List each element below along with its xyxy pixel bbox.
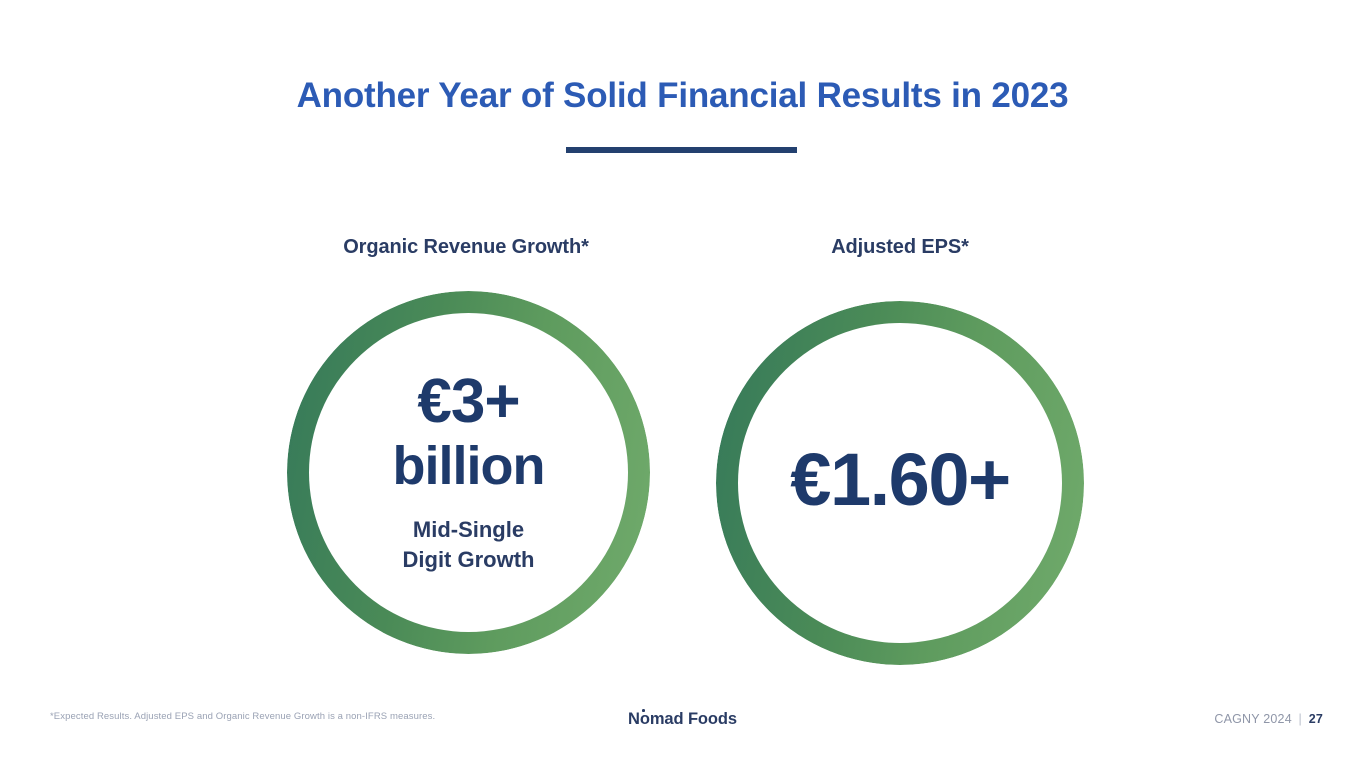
- metric-heading-organic-revenue-growth: Organic Revenue Growth*: [280, 236, 652, 259]
- metric-circle-adjusted-eps: €1.60+: [716, 301, 1084, 665]
- metric-value-organic-revenue: €3+: [393, 371, 545, 433]
- metric-circle-organic-revenue-growth: €3+ billion Mid-Single Digit Growth: [287, 291, 650, 654]
- slide-footer-meta: CAGNY 2024 | 27: [1214, 712, 1323, 726]
- logo-accent-dot-icon: [642, 709, 645, 712]
- logo-wordmark: omad Foods: [640, 710, 737, 728]
- metric-heading-adjusted-eps: Adjusted EPS*: [714, 236, 1086, 259]
- metric-circle-content: €1.60+: [738, 323, 1062, 643]
- metric-note-organic-revenue: Mid-Single Digit Growth: [403, 515, 535, 575]
- page-title: Another Year of Solid Financial Results …: [0, 74, 1365, 118]
- metric-note-line-1: Mid-Single: [403, 515, 535, 545]
- slide-canvas: Another Year of Solid Financial Results …: [0, 0, 1365, 768]
- page-number: 27: [1309, 712, 1323, 726]
- logo-lead-letter: N: [628, 710, 640, 728]
- metric-value-group: €3+ billion: [393, 371, 545, 493]
- logo-mark: N: [628, 710, 640, 729]
- brand-logo: N omad Foods: [0, 710, 1365, 729]
- title-divider: [566, 147, 797, 153]
- event-name: CAGNY 2024: [1214, 712, 1292, 726]
- metric-note-line-2: Digit Growth: [403, 545, 535, 575]
- metric-value-adjusted-eps: €1.60+: [790, 443, 1009, 523]
- metric-circle-content: €3+ billion Mid-Single Digit Growth: [309, 313, 628, 632]
- footer-separator: |: [1299, 712, 1302, 726]
- metric-unit-organic-revenue: billion: [393, 439, 545, 493]
